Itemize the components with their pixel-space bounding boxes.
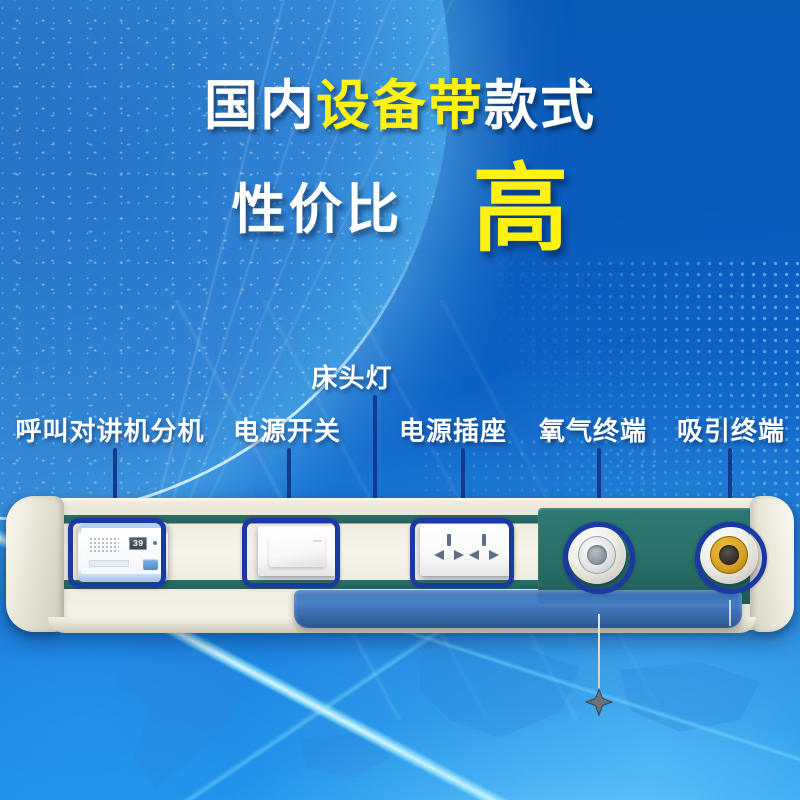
callout-intercom: 呼叫对讲机分机: [0, 408, 220, 448]
callout-bed-lamp: 床头灯: [272, 355, 432, 395]
callout-power-socket: 电源插座: [388, 408, 518, 448]
callout-label-intercom: 呼叫对讲机分机: [15, 411, 204, 448]
annotation-circle-oxygen: [563, 522, 635, 594]
headline-segment-3: 款式: [484, 76, 596, 136]
callout-label-suction: 吸引终端: [677, 411, 785, 448]
headline-segment-2: 设备带: [316, 76, 484, 136]
headline-block: 国内设备带款式: [0, 78, 800, 135]
annotation-box-intercom: [68, 518, 166, 588]
callout-power-switch: 电源开关: [222, 408, 352, 448]
callout-oxygen: 氧气终端: [528, 408, 658, 448]
callout-suction: 吸引终端: [664, 408, 798, 448]
annotation-box-power-switch: [242, 518, 340, 588]
pull-cord[interactable]: [598, 614, 600, 696]
callout-label-power-socket: 电源插座: [399, 411, 507, 448]
headline-segment-1: 国内: [204, 76, 316, 136]
subtitle: 性价比: [232, 165, 403, 244]
callout-label-oxygen: 氧气终端: [539, 411, 647, 448]
subline-row: 性价比 高: [0, 160, 800, 248]
product-banner: 国内设备带款式 性价比 高 呼叫对讲机分机 电源开关 床头灯 电源插座 氧气终端…: [0, 0, 800, 800]
halftone-dots-decoration: [440, 258, 800, 508]
page-title: 国内设备带款式: [0, 78, 800, 135]
callout-label-bed-lamp: 床头灯: [311, 358, 392, 395]
callout-label-power-switch: 电源开关: [233, 411, 341, 448]
bottom-glow-decoration: [0, 630, 800, 800]
panel-end-cap-left: [6, 496, 64, 632]
cross-pull-handle-icon[interactable]: [585, 688, 613, 716]
pull-cord-secondary[interactable]: [729, 600, 731, 626]
bed-lamp-diffuser[interactable]: [294, 590, 742, 628]
annotation-circle-suction: [695, 522, 767, 594]
highlight-character: 高: [473, 166, 569, 254]
annotation-box-power-socket: [410, 518, 514, 588]
